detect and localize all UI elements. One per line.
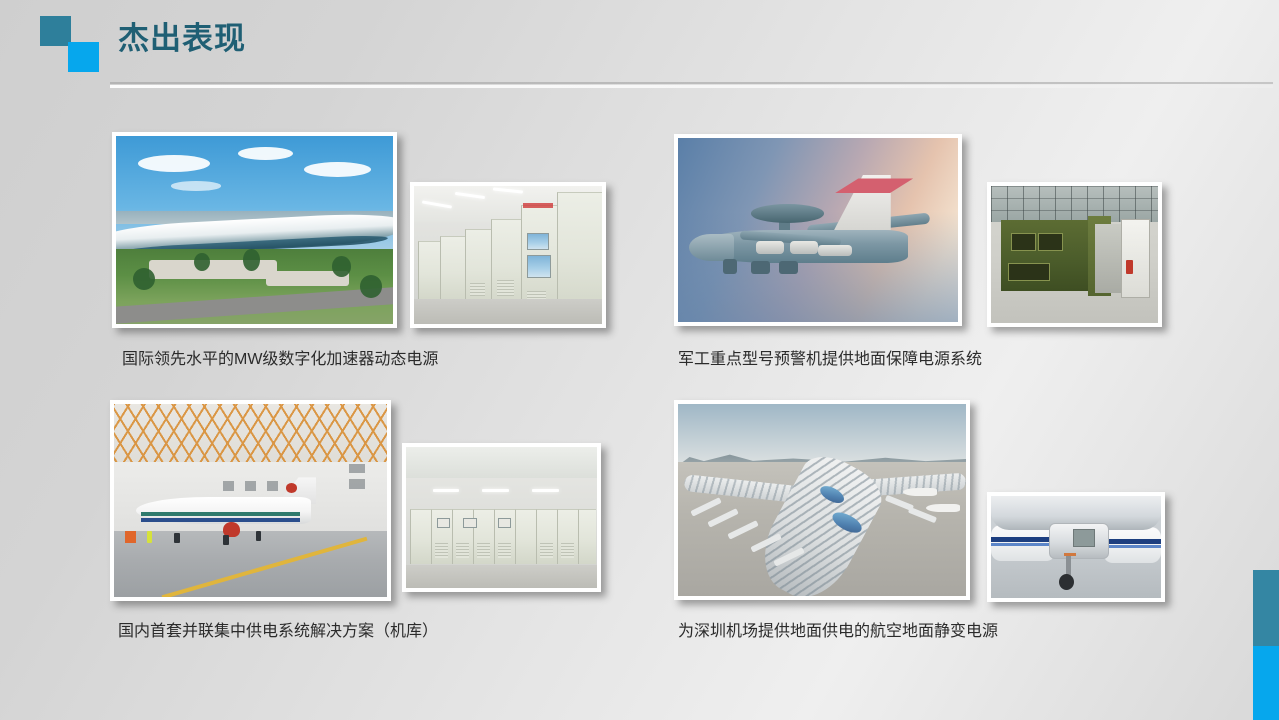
livery-stripe-light [991, 543, 1056, 546]
wall-window [349, 464, 365, 474]
photo-aircraft-hangar-image [114, 404, 387, 597]
cabinet-vent [456, 543, 469, 559]
shelter-connector-bay [1008, 263, 1050, 281]
cabinet-vent [470, 283, 485, 297]
photo-awacs-aircraft-image [678, 138, 958, 322]
worker-icon [174, 533, 179, 543]
floor [414, 299, 602, 324]
cabinet-display [527, 233, 550, 250]
photo-aircraft-hangar[interactable] [110, 400, 391, 601]
slide-canvas: 杰出表现 [0, 0, 1279, 720]
accent-bar-top [1253, 570, 1279, 646]
ceiling-light [482, 489, 509, 492]
photo-stadium-image [116, 136, 393, 324]
hangar-floor [114, 531, 387, 597]
shelter-panel [1038, 233, 1063, 251]
aircraft-engine [756, 241, 784, 254]
aircraft-engine [818, 245, 852, 256]
photo-power-cabinets-room-image [414, 186, 602, 324]
cabinet [410, 509, 432, 564]
cabinet [578, 509, 596, 564]
caption-item-4: 为深圳机场提供地面供电的航空地面静变电源 [678, 621, 998, 643]
landing-gear-wheel [1059, 574, 1074, 590]
photo-aircraft-ground-power-image [991, 496, 1161, 598]
photo-shenzhen-airport-terminal[interactable] [674, 400, 970, 600]
photo-parallel-power-cabinets[interactable] [402, 443, 601, 592]
aircraft-engine [790, 241, 818, 254]
cloud-icon [171, 181, 221, 190]
ceiling-light [433, 489, 460, 492]
parked-aircraft [903, 488, 938, 496]
aircraft-nose [689, 234, 734, 262]
livery-stripe-light [1103, 545, 1161, 548]
cloud-icon [138, 155, 210, 172]
ceiling [406, 447, 597, 478]
logo-square-light-icon [68, 42, 99, 72]
worker-icon [147, 531, 152, 543]
photo-military-shelter[interactable] [987, 182, 1162, 327]
radar-dome-icon [751, 204, 824, 222]
header-logo-marks [40, 16, 110, 66]
photo-stadium[interactable] [112, 132, 397, 328]
caption-item-1: 国际领先水平的MW级数字化加速器动态电源 [122, 349, 438, 371]
roof-truss [114, 404, 387, 462]
accent-bar-bottom [1253, 646, 1279, 720]
ground-power-cable [1064, 553, 1076, 556]
photo-military-shelter-image [991, 186, 1158, 323]
livery-stripe [1103, 539, 1161, 544]
cabinet-panel [498, 518, 511, 528]
shelter-door [1121, 219, 1150, 298]
cabinet [440, 236, 465, 302]
caption-item-2: 军工重点型号预警机提供地面保障电源系统 [678, 349, 982, 371]
sky [678, 404, 966, 462]
header-divider [110, 82, 1273, 84]
wall-window [245, 481, 256, 491]
ceiling-light [532, 489, 559, 492]
jet-tail-logo-icon [286, 483, 297, 493]
cabinet-vent [498, 543, 511, 559]
cabinet [515, 509, 537, 564]
cabinet-vent [540, 543, 553, 559]
photo-shenzhen-airport-terminal-image [678, 404, 966, 596]
cabinet [557, 192, 602, 309]
photo-awacs-aircraft[interactable] [674, 134, 962, 326]
canopy-grid [991, 186, 1158, 222]
cabinet-label [523, 203, 553, 209]
tree-icon [133, 268, 155, 291]
worker-icon [256, 531, 261, 541]
caption-item-3: 国内首套并联集中供电系统解决方案（机库） [118, 621, 438, 643]
worker-icon [223, 535, 228, 545]
parked-aircraft [926, 504, 961, 512]
cabinet-vent [561, 543, 574, 559]
livery-stripe [991, 537, 1056, 542]
photo-power-cabinets-room[interactable] [410, 182, 606, 328]
landing-gear [751, 261, 771, 274]
page-title: 杰出表现 [118, 19, 246, 59]
header-divider-highlight [110, 85, 1273, 88]
wall-window [349, 479, 365, 489]
logo-square-dark-icon [40, 16, 71, 46]
cabinet [418, 241, 442, 300]
cabinet-panel [463, 518, 476, 528]
landing-gear [779, 261, 799, 274]
canopy [991, 186, 1158, 222]
jet-stripe-green [141, 512, 299, 516]
engine-access-panel [1073, 529, 1095, 547]
wall-window [223, 481, 234, 491]
tree-icon [360, 275, 382, 298]
ground-equipment [125, 531, 136, 543]
fire-extinguisher-icon [1126, 260, 1133, 274]
jet-stripe-blue [141, 518, 299, 522]
floor [406, 565, 597, 588]
cabinet-vent [497, 280, 514, 297]
photo-parallel-power-cabinets-image [406, 447, 597, 588]
cabinet-vent [477, 543, 490, 559]
wall-window [267, 481, 278, 491]
shelter-interior [1095, 224, 1125, 293]
photo-aircraft-ground-power[interactable] [987, 492, 1165, 602]
cabinet-display [527, 255, 552, 278]
landing-gear [723, 259, 737, 274]
cabinet-vent [435, 543, 448, 559]
shelter-panel [1011, 233, 1036, 251]
cabinet-panel [437, 518, 450, 528]
